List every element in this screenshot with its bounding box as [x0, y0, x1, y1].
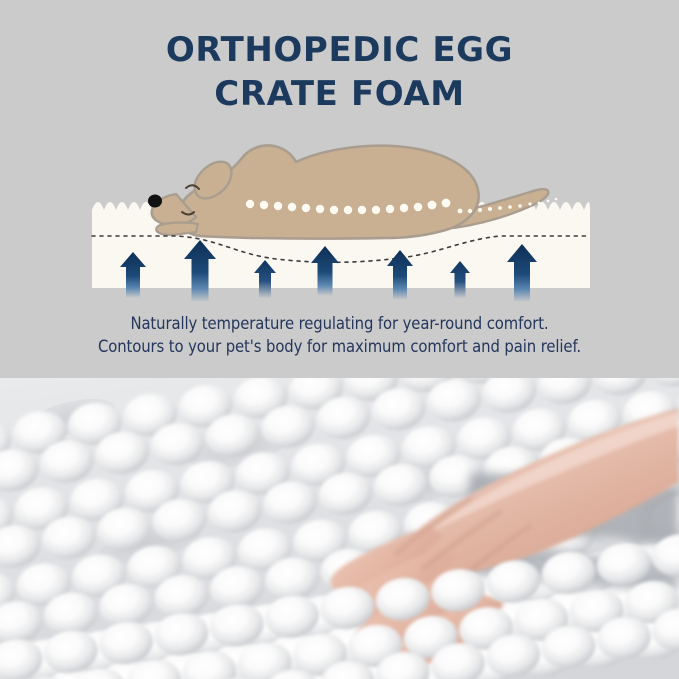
feature-line-2: Contours to your pet's body for maximum …	[0, 335, 679, 358]
hand-pressing-egg-crate-foam-photo	[0, 378, 679, 679]
illustration-svg	[0, 128, 679, 308]
feature-description: Naturally temperature regulating for yea…	[0, 312, 679, 358]
feature-line-1: Naturally temperature regulating for yea…	[0, 312, 679, 335]
foam-photo-panel	[0, 378, 679, 679]
photo-vignette	[0, 378, 679, 679]
dog-front-paw	[156, 223, 198, 235]
top-info-panel: ORTHOPEDIC EGG CRATE FOAM	[0, 0, 679, 378]
page-title: ORTHOPEDIC EGG CRATE FOAM	[0, 28, 679, 116]
product-feature-infographic: ORTHOPEDIC EGG CRATE FOAM	[0, 0, 679, 679]
photo-content	[0, 378, 679, 679]
dog-nose	[148, 195, 162, 208]
dog-on-foam-illustration	[0, 128, 679, 308]
